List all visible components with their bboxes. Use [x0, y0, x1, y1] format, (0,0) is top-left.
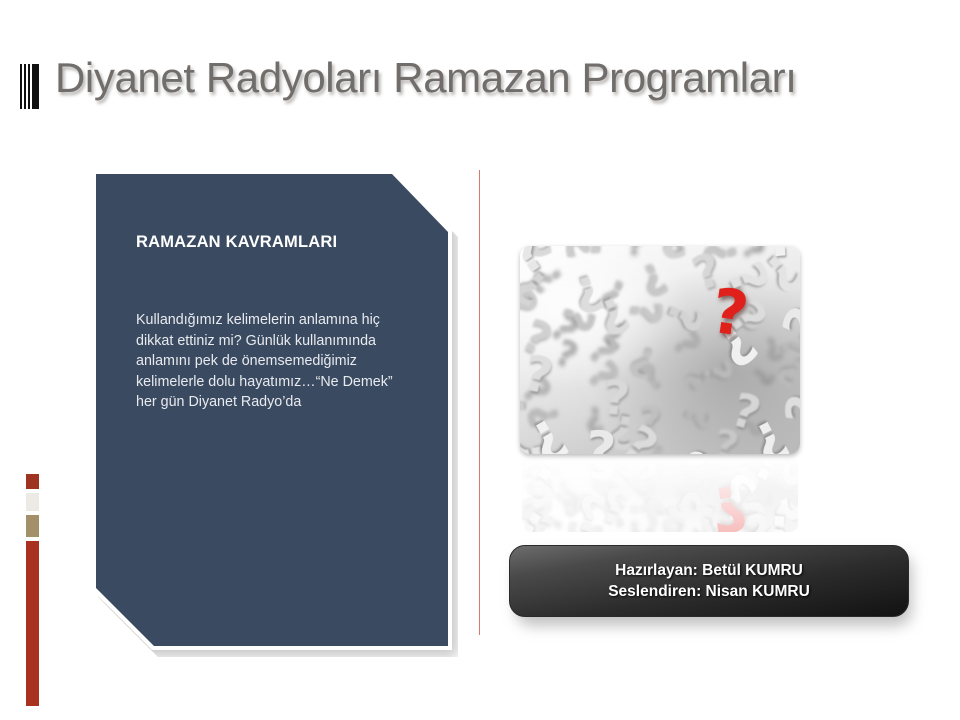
question-marks-photo-reflection: ????????????????????????????????????????… [522, 456, 798, 532]
ramazan-kavramlari-panel: RAMAZAN KAVRAMLARI Kullandığımız kelimel… [92, 170, 452, 650]
panel-heading: RAMAZAN KAVRAMLARI [136, 233, 406, 252]
question-mark-glyph: ? [564, 246, 608, 261]
credits-line-prepared-by: Hazırlayan: Betül KUMRU [615, 560, 803, 581]
page-title: Diyanet Radyoları Ramazan Programları [55, 54, 797, 102]
question-marks-photo: ????????????????????????????????????????… [520, 246, 800, 454]
side-accent-strip [26, 474, 39, 706]
column-divider [479, 170, 480, 635]
question-marks-photo-block: ????????????????????????????????????????… [520, 246, 800, 536]
side-strip-cream-chip [26, 493, 39, 511]
side-strip-red-bar [26, 541, 39, 706]
panel-paragraph: Kullandığımız kelimelerin anlamına hiç d… [136, 310, 404, 413]
credits-line-voiced-by: Seslendiren: Nisan KUMRU [608, 581, 810, 602]
vertical-bars-icon [20, 64, 42, 109]
question-mark-glyph: ? [781, 392, 800, 425]
slide-title-bar: Diyanet Radyoları Ramazan Programları [0, 58, 960, 120]
question-mark-glyph: ? [583, 456, 619, 485]
question-mark-glyph: ? [600, 374, 631, 423]
question-mark-glyph: ? [626, 246, 643, 260]
question-marks-scene: ????????????????????????????????????????… [520, 246, 800, 454]
question-mark-glyph: ? [582, 424, 618, 454]
side-strip-red-chip [26, 474, 39, 489]
question-marks-scene-mirror: ????????????????????????????????????????… [522, 456, 798, 532]
question-mark-glyph: ? [764, 246, 799, 265]
question-mark-glyph: ? [762, 507, 797, 532]
side-strip-khaki-chip [26, 515, 39, 537]
credits-box: Hazırlayan: Betül KUMRU Seslendiren: Nis… [509, 545, 909, 617]
